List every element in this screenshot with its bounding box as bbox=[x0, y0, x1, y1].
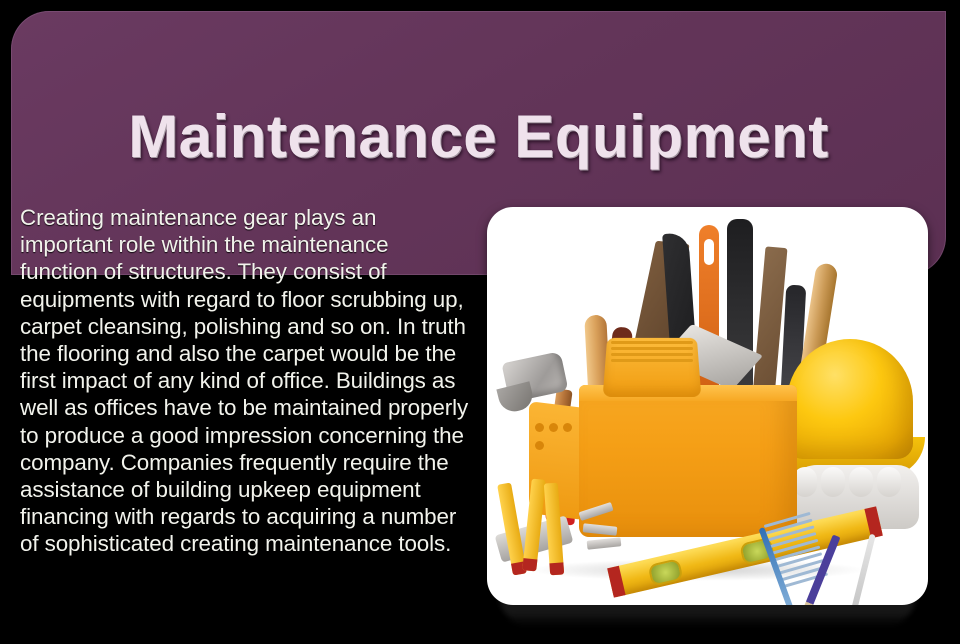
body-paragraph: Creating maintenance gear plays an impor… bbox=[20, 204, 472, 558]
toolbox-handle-ridges bbox=[611, 341, 693, 367]
page-title: Maintenance Equipment bbox=[11, 107, 946, 167]
toolbox-body bbox=[579, 385, 797, 537]
hard-hat-icon bbox=[787, 339, 913, 459]
toolbox-illustration bbox=[487, 207, 928, 605]
toolbox-photo-card bbox=[487, 207, 928, 605]
presentation-slide: Maintenance Equipment Creating maintenan… bbox=[0, 0, 960, 644]
screw-3 bbox=[587, 537, 622, 550]
